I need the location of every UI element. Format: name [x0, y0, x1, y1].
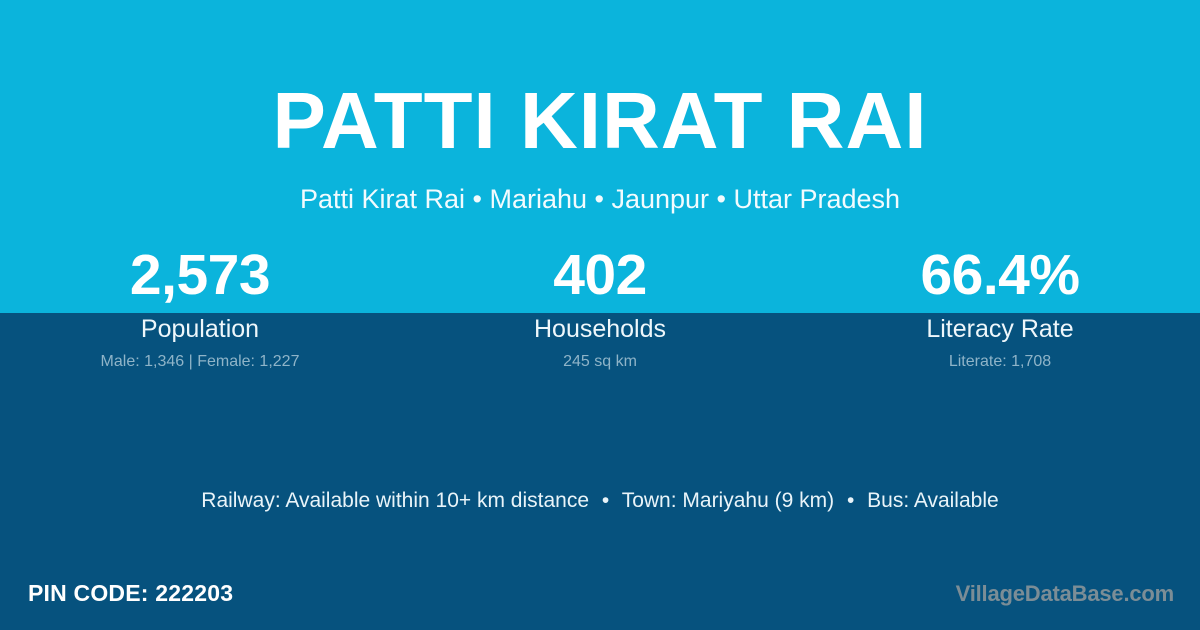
stat-label-literacy-rate: Literacy Rate: [800, 314, 1200, 344]
stat-value-population: 2,573: [0, 244, 400, 306]
stat-households: 402 Households 245 sq km: [400, 244, 800, 372]
site-watermark: VillageDataBase.com: [956, 579, 1174, 609]
page-title: PATTI KIRAT RAI: [0, 78, 1200, 164]
infra-railway: Railway: Available within 10+ km distanc…: [201, 489, 589, 512]
stat-population: 2,573 Population Male: 1,346 | Female: 1…: [0, 244, 400, 372]
pin-code: PIN CODE: 222203: [28, 578, 233, 608]
stat-label-households: Households: [400, 314, 800, 344]
stats-row: 2,573 Population Male: 1,346 | Female: 1…: [0, 244, 1200, 372]
stat-value-literacy-rate: 66.4%: [800, 244, 1200, 306]
stat-sub-households: 245 sq km: [400, 352, 800, 372]
stat-label-population: Population: [0, 314, 400, 344]
village-info-card: PATTI KIRAT RAI Patti Kirat Rai • Mariah…: [0, 0, 1200, 630]
stat-sub-literacy-rate: Literate: 1,708: [800, 352, 1200, 372]
infra-separator-2: •: [840, 489, 861, 512]
infra-town: Town: Mariyahu (9 km): [622, 489, 834, 512]
stat-sub-population: Male: 1,346 | Female: 1,227: [0, 352, 400, 372]
infra-bus: Bus: Available: [867, 489, 999, 512]
infrastructure-line: Railway: Available within 10+ km distanc…: [0, 487, 1200, 515]
stat-value-households: 402: [400, 244, 800, 306]
infra-separator-1: •: [595, 489, 616, 512]
footer: PIN CODE: 222203 VillageDataBase.com: [0, 573, 1200, 630]
stat-literacy-rate: 66.4% Literacy Rate Literate: 1,708: [800, 244, 1200, 372]
breadcrumb: Patti Kirat Rai • Mariahu • Jaunpur • Ut…: [0, 181, 1200, 217]
